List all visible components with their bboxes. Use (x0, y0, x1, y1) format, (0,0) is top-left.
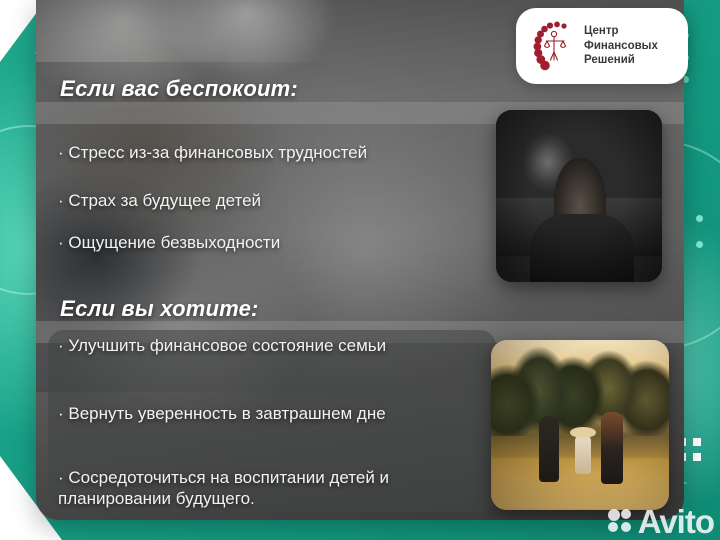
section-1-bullet-2: · Страх за будущее детей (58, 190, 488, 211)
worried-family-photo (496, 110, 662, 282)
company-logo-card[interactable]: Центр Финансовых Решений (516, 8, 688, 84)
avito-watermark: Avito (608, 505, 714, 538)
logo-line-1: Центр (584, 24, 658, 39)
dot-grid-mid-right (696, 215, 712, 267)
section-1-bullet-3: · Ощущение безвыходности (58, 232, 488, 253)
section-2-bullet-1: · Улучшить финансовое состояние семьи (58, 335, 483, 356)
avito-wordmark: Avito (638, 505, 714, 538)
logo-line-2: Финансовых (584, 39, 658, 54)
section-2-bullet-2: · Вернуть уверенность в завтрашнем дне (58, 403, 483, 424)
happy-family-sunset-photo (491, 340, 669, 510)
section-2-heading: Если вы хотите: (60, 296, 259, 322)
avito-dots-icon (608, 509, 634, 535)
section-2-bullet-3: · Сосредоточиться на воспитании детей и … (58, 467, 493, 509)
section-1-bullet-1: · Стресс из-за финансовых трудностей (58, 142, 488, 163)
company-logo-text: Центр Финансовых Решений (584, 24, 658, 68)
logo-line-3: Решений (584, 53, 658, 68)
scales-figure-emblem-icon (530, 20, 576, 72)
section-1-heading: Если вас беспокоит: (60, 76, 298, 102)
